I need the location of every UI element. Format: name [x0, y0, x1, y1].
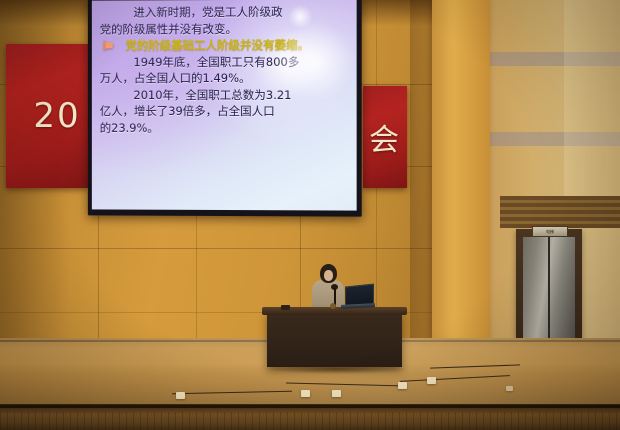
slide-line: 亿人，增长了39倍多，占全国人口 — [100, 103, 347, 120]
stage-skirt — [0, 412, 620, 430]
stage-edge-line — [0, 405, 620, 408]
door-sign: 电梯 — [532, 226, 568, 237]
cable-tape-marker — [398, 382, 407, 389]
wood-slat-lintel — [500, 196, 620, 228]
red-banner-left: 20 — [6, 44, 88, 188]
right-wall-shading — [410, 0, 450, 340]
banner-left-text: 20 — [13, 96, 80, 136]
cable-tape-marker — [332, 390, 341, 397]
arrow-bullet-icon — [104, 40, 115, 50]
cable-tape-marker — [301, 390, 310, 397]
screen-glare — [271, 22, 357, 102]
presenter-face — [324, 270, 333, 281]
desk-object — [330, 303, 336, 309]
cable-tape-marker — [176, 392, 185, 399]
door-split-line — [548, 237, 550, 341]
desk-object — [281, 305, 290, 310]
red-banner-right: 会 — [363, 86, 407, 188]
cable-tape-marker — [506, 386, 513, 391]
banner-right-text: 会 — [369, 115, 401, 159]
cable-tape-marker — [427, 377, 436, 384]
auditorium-scene: 20 会 电梯 进入新时期，党是工人阶级政 党的阶级属性并没有改变。 党的阶级基… — [0, 0, 620, 430]
screen-glare-spot — [287, 6, 313, 28]
slide-line: 的23.9%。 — [100, 119, 347, 136]
presenter-desk — [267, 311, 402, 367]
projection-screen-frame: 进入新时期，党是工人阶级政 党的阶级属性并没有改变。 党的阶级基础工人阶级并没有… — [88, 0, 362, 217]
door-sign-text: 电梯 — [533, 227, 567, 236]
projection-screen: 进入新时期，党是工人阶级政 党的阶级属性并没有改变。 党的阶级基础工人阶级并没有… — [92, 0, 357, 211]
